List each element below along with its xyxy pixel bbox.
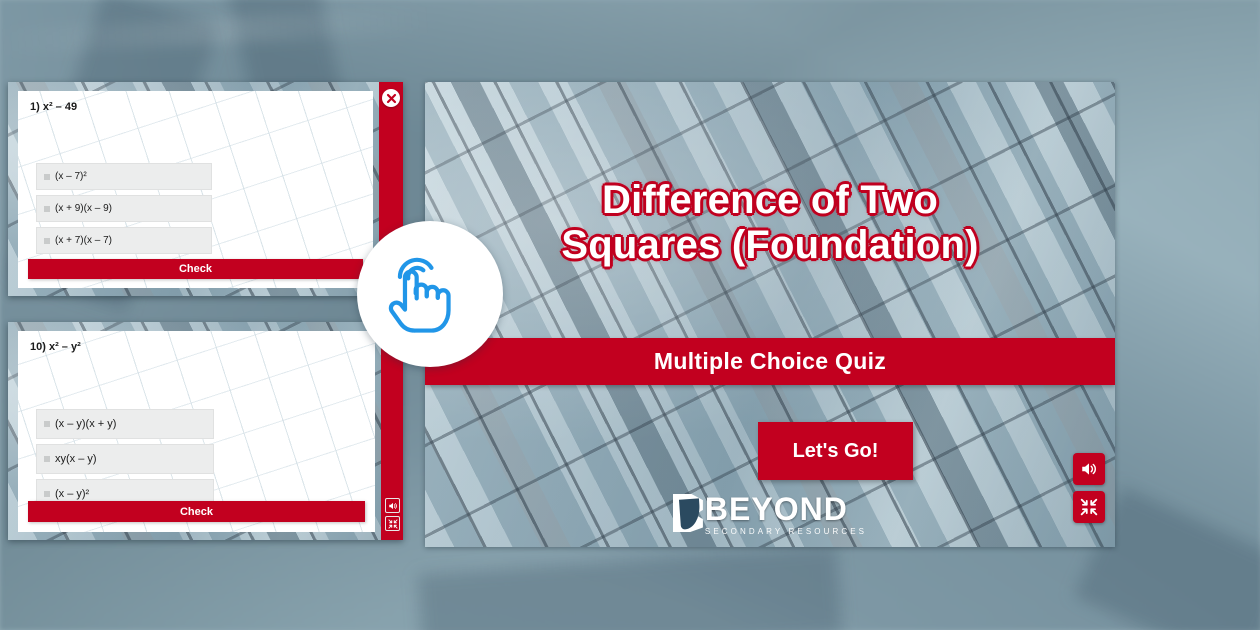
answer-option[interactable]: (x – 7)² xyxy=(36,163,212,190)
page-title: Difference of Two Squares (Foundation) xyxy=(425,178,1115,268)
answer-option[interactable]: xy(x – y) xyxy=(36,444,214,474)
check-button[interactable]: Check xyxy=(28,501,365,522)
quiz-card-1[interactable]: 1) x² – 49 (x – 7)² (x + 9)(x – 9) (x + … xyxy=(8,82,403,296)
radio-box-icon xyxy=(44,421,50,427)
collapse-fullscreen-icon[interactable] xyxy=(385,516,400,531)
answer-option-label: (x + 9)(x – 9) xyxy=(55,203,112,214)
radio-box-icon xyxy=(44,174,50,180)
answer-option-label: (x – 7)² xyxy=(55,171,87,182)
question-text: 10) x² – y² xyxy=(30,341,81,353)
cursor-highlight-bubble xyxy=(357,221,503,367)
radio-box-icon xyxy=(44,456,50,462)
title-line-2: Squares (Foundation) xyxy=(425,223,1115,268)
answer-option-label: (x – y)(x + y) xyxy=(55,418,116,430)
answer-option-label: (x – y)² xyxy=(55,488,89,500)
answer-option[interactable]: (x – y)(x + y) xyxy=(36,409,214,439)
collapse-fullscreen-icon[interactable] xyxy=(1073,491,1105,523)
volume-icon[interactable] xyxy=(1073,453,1105,485)
tap-hand-icon xyxy=(378,242,482,346)
answer-options-list: (x – y)(x + y) xy(x – y) (x – y)² xyxy=(36,409,375,514)
quiz-card-2[interactable]: 10) x² – y² (x – y)(x + y) xy(x – y) (x … xyxy=(8,322,403,540)
answer-options-list: (x – 7)² (x + 9)(x – 9) (x + 7)(x – 7) xyxy=(36,163,373,259)
check-button[interactable]: Check xyxy=(28,259,363,279)
card-content-sheet: 10) x² – y² (x – y)(x + y) xy(x – y) (x … xyxy=(18,331,375,532)
question-text: 1) x² – 49 xyxy=(30,101,77,113)
radio-box-icon xyxy=(44,491,50,497)
subtitle-banner: Multiple Choice Quiz xyxy=(425,338,1115,385)
answer-option-label: (x + 7)(x – 7) xyxy=(55,235,112,246)
subtitle-text: Multiple Choice Quiz xyxy=(654,348,886,375)
answer-option[interactable]: (x + 7)(x – 7) xyxy=(36,227,212,254)
card-content-sheet: 1) x² – 49 (x – 7)² (x + 9)(x – 9) (x + … xyxy=(18,91,373,288)
answer-option[interactable]: (x + 9)(x – 9) xyxy=(36,195,212,222)
close-icon[interactable] xyxy=(382,89,400,107)
title-line-1: Difference of Two xyxy=(425,178,1115,223)
volume-icon[interactable] xyxy=(385,498,400,513)
radio-box-icon xyxy=(44,238,50,244)
answer-option-label: xy(x – y) xyxy=(55,453,97,465)
title-slide-panel: Difference of Two Squares (Foundation) M… xyxy=(425,82,1115,547)
slide-canvas: 1) x² – 49 (x – 7)² (x + 9)(x – 9) (x + … xyxy=(0,0,1260,630)
lets-go-button[interactable]: Let's Go! xyxy=(758,422,913,480)
radio-box-icon xyxy=(44,206,50,212)
